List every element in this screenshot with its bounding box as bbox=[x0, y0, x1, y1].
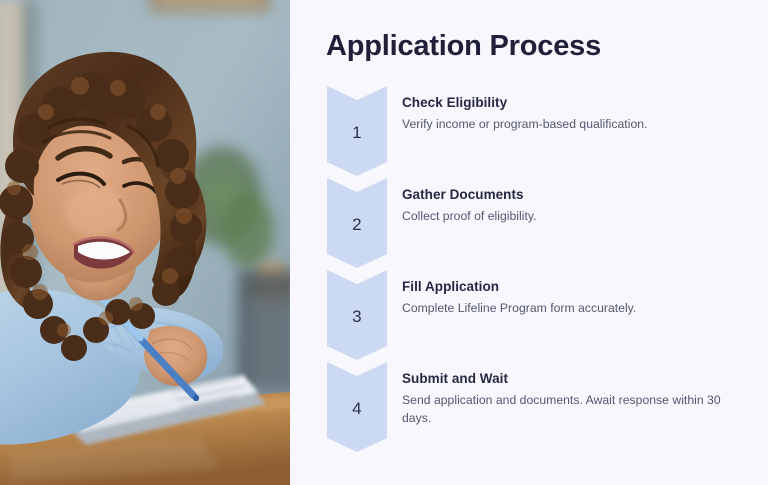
page-title: Application Process bbox=[326, 28, 601, 64]
step-description: Verify income or program-based qualifica… bbox=[402, 116, 732, 134]
step-description: Collect proof of eligibility. bbox=[402, 208, 732, 226]
hero-photo-panel bbox=[0, 0, 290, 485]
step-text: Submit and Wait Send application and doc… bbox=[402, 370, 732, 427]
step-item: 1 Check Eligibility Verify income or pro… bbox=[290, 86, 768, 178]
content-panel: Application Process 1 Check Eligibility … bbox=[290, 0, 768, 485]
step-number: 1 bbox=[327, 86, 387, 176]
step-number: 2 bbox=[327, 178, 387, 268]
step-text: Check Eligibility Verify income or progr… bbox=[402, 94, 732, 134]
step-description: Complete Lifeline Program form accuratel… bbox=[402, 300, 732, 318]
step-title: Submit and Wait bbox=[402, 370, 732, 387]
step-description: Send application and documents. Await re… bbox=[402, 392, 732, 427]
step-number: 4 bbox=[327, 362, 387, 452]
step-text: Fill Application Complete Lifeline Progr… bbox=[402, 278, 732, 318]
step-item: 2 Gather Documents Collect proof of elig… bbox=[290, 178, 768, 270]
application-process-slide: Application Process 1 Check Eligibility … bbox=[0, 0, 768, 485]
step-number: 3 bbox=[327, 270, 387, 360]
step-title: Gather Documents bbox=[402, 186, 732, 203]
step-item: 3 Fill Application Complete Lifeline Pro… bbox=[290, 270, 768, 362]
photo-person-writing bbox=[0, 0, 290, 485]
step-title: Fill Application bbox=[402, 278, 732, 295]
step-text: Gather Documents Collect proof of eligib… bbox=[402, 186, 732, 226]
step-item: 4 Submit and Wait Send application and d… bbox=[290, 362, 768, 454]
steps-list: 1 Check Eligibility Verify income or pro… bbox=[290, 86, 768, 454]
step-title: Check Eligibility bbox=[402, 94, 732, 111]
